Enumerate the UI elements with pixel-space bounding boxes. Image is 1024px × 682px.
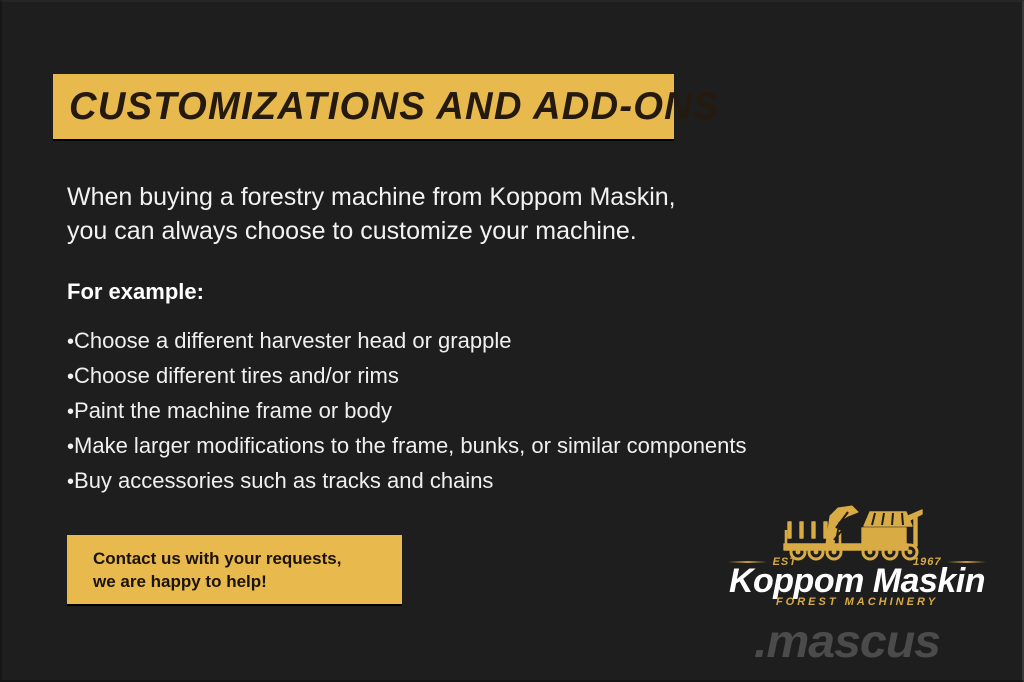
koppom-maskin-logo: EST 1967 Koppom Maskin FOREST MACHINERY — [728, 500, 986, 608]
cta-line-1: Contact us with your requests, — [93, 547, 402, 570]
contact-cta-box[interactable]: Contact us with your requests, we are ha… — [67, 535, 402, 604]
promotional-poster: CUSTOMIZATIONS AND ADD-ONS When buying a… — [0, 0, 1024, 682]
intro-line-2: you can always choose to customize your … — [67, 214, 787, 248]
customization-options-list: • Choose a different harvester head or g… — [67, 324, 827, 499]
intro-paragraph: When buying a forestry machine from Kopp… — [67, 180, 787, 248]
list-item-label: Buy accessories such as tracks and chain… — [74, 464, 493, 498]
bullet-dot-icon: • — [67, 325, 74, 359]
bullet-dot-icon: • — [67, 465, 74, 499]
list-item: • Paint the machine frame or body — [67, 394, 827, 429]
list-item: • Make larger modifications to the frame… — [67, 429, 827, 464]
page-title: CUSTOMIZATIONS AND ADD-ONS — [69, 85, 720, 129]
forwarder-machine-icon — [778, 500, 938, 562]
bullet-dot-icon: • — [67, 395, 74, 429]
list-item: • Choose a different harvester head or g… — [67, 324, 827, 359]
list-item-label: Paint the machine frame or body — [74, 394, 392, 428]
for-example-label: For example: — [67, 279, 204, 305]
list-item-label: Make larger modifications to the frame, … — [74, 429, 747, 463]
bullet-dot-icon: • — [67, 360, 74, 394]
intro-line-1: When buying a forestry machine from Kopp… — [67, 180, 787, 214]
list-item-label: Choose different tires and/or rims — [74, 359, 399, 393]
list-item: • Buy accessories such as tracks and cha… — [67, 464, 827, 499]
title-banner: CUSTOMIZATIONS AND ADD-ONS — [53, 74, 674, 139]
list-item-label: Choose a different harvester head or gra… — [74, 324, 511, 358]
logo-tagline: FOREST MACHINERY — [728, 596, 986, 608]
mascus-watermark: .mascus — [754, 614, 940, 668]
bullet-dot-icon: • — [67, 430, 74, 464]
list-item: • Choose different tires and/or rims — [67, 359, 827, 394]
cta-line-2: we are happy to help! — [93, 570, 402, 593]
